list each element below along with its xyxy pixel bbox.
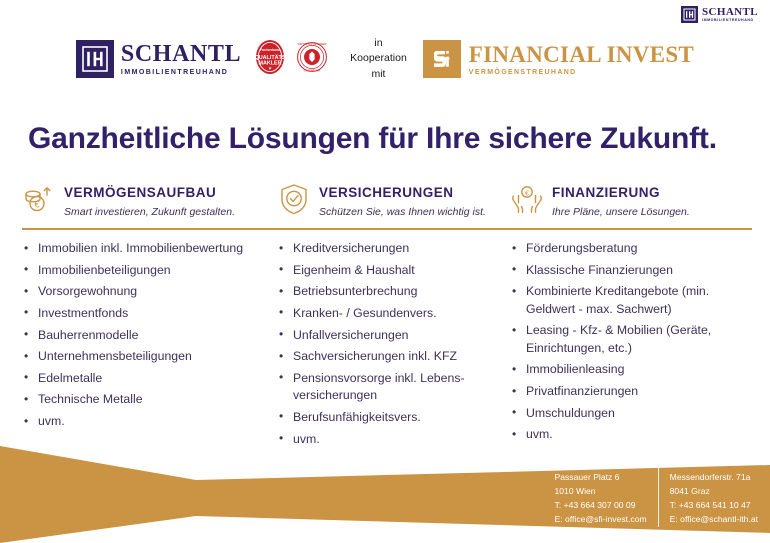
header-logo-row: SCHANTL IMMOBILIENTREUHAND Fachverband Q… xyxy=(0,34,770,84)
list-item: Kreditversicherungen xyxy=(277,240,510,257)
svg-text:€: € xyxy=(525,190,529,197)
list-item: Investmentfonds xyxy=(22,305,277,322)
column-title: FINANZIERUNG xyxy=(552,185,660,200)
office-wien-phone[interactable]: T: +43 664 307 00 09 xyxy=(555,499,647,513)
list-item: Berufsunfähigkeitsvers. xyxy=(277,409,510,426)
shield-check-icon xyxy=(277,182,311,216)
gold-divider xyxy=(22,228,752,230)
column-subtitle: Schützen Sie, was Ihnen wichtig ist. xyxy=(319,206,486,218)
bullet-list-vermoegensaufbau: Immobilien inkl. Immobilienbewertung Imm… xyxy=(22,240,277,452)
coins-euro-growth-icon: € xyxy=(22,182,56,216)
list-item: uvm. xyxy=(22,413,277,430)
list-item: Leasing - Kfz- & Mobilien (Geräte, Einri… xyxy=(510,322,752,357)
column-vermoegensaufbau: € VERMÖGENSAUFBAU Smart investieren, Zuk… xyxy=(22,182,277,224)
office-wien-title: Office Wien: xyxy=(555,457,647,471)
brochure-page: SCHANTL IMMOBILIENTREUHAND SCHANTL IMMOB… xyxy=(0,0,770,543)
list-item: Privatfinanzierungen xyxy=(510,383,752,400)
cooperation-text: in Kooperation mit xyxy=(350,36,407,82)
office-graz-block: Office Graz: Messendorferstr. 71a 8041 G… xyxy=(658,457,758,527)
cooperation-line-2: Kooperation xyxy=(350,52,407,64)
column-versicherungen: VERSICHERUNGEN Schützen Sie, was Ihnen w… xyxy=(277,182,510,224)
list-item: Pensionsvorsorge inkl. Lebens-versicheru… xyxy=(277,370,510,405)
corner-logo-name: SCHANTL xyxy=(702,7,758,18)
office-graz-title: Office Graz: xyxy=(670,457,758,471)
financial-invest-logo: FINANCIAL INVEST VERMÖGENSTREUHAND xyxy=(423,40,694,78)
list-item: Kombinierte Kreditangebote (min. Geldwer… xyxy=(510,283,752,318)
list-item: Betriebsunterbrechung xyxy=(277,283,510,300)
list-item: Vorsorgewohnung xyxy=(22,283,277,300)
schantl-logo-subtitle: IMMOBILIENTREUHAND xyxy=(121,69,241,76)
list-item: Sachversicherungen inkl. KFZ xyxy=(277,348,510,365)
svg-text:ÖSTERREICH: ÖSTERREICH xyxy=(304,69,321,72)
list-item: Eigenheim & Haushalt xyxy=(277,262,510,279)
svg-text:WIRTSCHAFTSKAMMER: WIRTSCHAFTSKAMMER xyxy=(298,43,327,46)
office-graz-email[interactable]: E: office@schantl-ith.at xyxy=(670,513,758,527)
schantl-logo-name: SCHANTL xyxy=(121,42,241,66)
list-item: Klassische Finanzierungen xyxy=(510,262,752,279)
hands-holding-coin-icon: € xyxy=(510,182,544,216)
office-wien-block: Office Wien: Passauer Platz 6 1010 Wien … xyxy=(555,457,658,527)
svg-text:★: ★ xyxy=(268,65,272,70)
list-item: Technische Metalle xyxy=(22,391,277,408)
list-item: Unternehmensbeteiligungen xyxy=(22,348,277,365)
column-title: VERSICHERUNGEN xyxy=(319,185,454,200)
column-subtitle: Ihre Pläne, unsere Lösungen. xyxy=(552,206,690,218)
list-item: Umschuldungen xyxy=(510,405,752,422)
list-item: Unfallversicherungen xyxy=(277,327,510,344)
service-bullet-lists: Immobilien inkl. Immobilienbewertung Imm… xyxy=(22,240,752,452)
office-graz-city: 8041 Graz xyxy=(670,485,758,499)
office-graz-phone[interactable]: T: +43 664 541 10 47 xyxy=(670,499,758,513)
svg-text:Fachverband: Fachverband xyxy=(260,48,280,52)
list-item: Kranken- / Gesundenvers. xyxy=(277,305,510,322)
ith-monogram-icon xyxy=(681,6,698,23)
list-item: Bauherrenmodelle xyxy=(22,327,277,344)
column-subtitle: Smart investieren, Zukunft gestalten. xyxy=(64,206,235,218)
column-finanzierung: € FINANZIERUNG Ihre Pläne, unsere Lösung… xyxy=(510,182,752,224)
office-graz-street: Messendorferstr. 71a xyxy=(670,471,758,485)
cooperation-line-3: mit xyxy=(371,68,385,80)
footer-contacts: Office Wien: Passauer Platz 6 1010 Wien … xyxy=(555,457,759,527)
quality-broker-seal-icon: Fachverband QUALITÄTS MAKLER ★ xyxy=(250,37,290,82)
ith-monogram-icon xyxy=(76,40,114,78)
bullet-list-finanzierung: Förderungsberatung Klassische Finanzieru… xyxy=(510,240,752,452)
certification-seals: Fachverband QUALITÄTS MAKLER ★ WIRTSCHAF… xyxy=(250,37,332,82)
office-wien-city: 1010 Wien xyxy=(555,485,647,499)
cooperation-line-1: in xyxy=(374,37,382,49)
sfi-logo-subtitle: VERMÖGENSTREUHAND xyxy=(469,69,694,76)
corner-logo-subtitle: IMMOBILIENTREUHAND xyxy=(702,19,758,23)
list-item: Immobilienleasing xyxy=(510,361,752,378)
austrian-eagle-seal-icon: WIRTSCHAFTSKAMMER ÖSTERREICH xyxy=(292,37,332,82)
bullet-list-versicherungen: Kreditversicherungen Eigenheim & Haushal… xyxy=(277,240,510,452)
list-item: Immobilien inkl. Immobilienbewertung xyxy=(22,240,277,257)
svg-text:€: € xyxy=(34,199,40,210)
corner-brand-logo: SCHANTL IMMOBILIENTREUHAND xyxy=(681,6,758,23)
list-item: Edelmetalle xyxy=(22,370,277,387)
sfi-monogram-icon xyxy=(423,40,461,78)
office-wien-street: Passauer Platz 6 xyxy=(555,471,647,485)
service-column-headers: € VERMÖGENSAUFBAU Smart investieren, Zuk… xyxy=(22,182,752,224)
list-item: Immobilienbeteiligungen xyxy=(22,262,277,279)
column-title: VERMÖGENSAUFBAU xyxy=(64,185,216,200)
sfi-logo-name: FINANCIAL INVEST xyxy=(469,43,694,66)
list-item: Förderungsberatung xyxy=(510,240,752,257)
page-headline: Ganzheitliche Lösungen für Ihre sichere … xyxy=(28,122,717,156)
office-wien-email[interactable]: E: office@sfi-invest.com xyxy=(555,513,647,527)
schantl-logo: SCHANTL IMMOBILIENTREUHAND xyxy=(76,40,241,78)
